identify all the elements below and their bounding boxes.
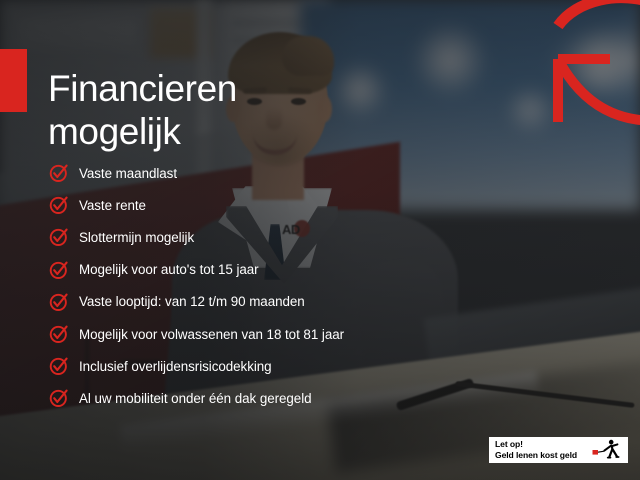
list-item: Mogelijk voor auto's tot 15 jaar <box>48 254 448 286</box>
person-arm-front <box>612 444 617 446</box>
list-item-label: Mogelijk voor volwassenen van 18 tot 81 … <box>79 327 344 342</box>
list-item-label: Slottermijn mogelijk <box>79 230 194 245</box>
list-item-label: Inclusief overlijdensrisicodekking <box>79 359 272 374</box>
red-arc-bracket-logo <box>536 0 640 146</box>
list-item-label: Vaste maandlast <box>79 166 177 181</box>
list-item-label: Al uw mobiliteit onder één dak geregeld <box>79 391 312 406</box>
logo-top-arc <box>558 0 640 26</box>
person-head <box>609 440 614 445</box>
logo-diagonal-arc <box>558 59 640 121</box>
check-circle-icon <box>48 259 70 281</box>
check-circle-icon <box>48 291 70 313</box>
list-item-label: Mogelijk voor auto's tot 15 jaar <box>79 262 259 277</box>
person-leg-front <box>613 450 617 457</box>
check-circle-icon <box>48 194 70 216</box>
person-arm-back <box>604 446 611 451</box>
person-leg-back <box>609 450 612 457</box>
warning-line-1: Let op! <box>495 439 592 450</box>
list-item-label: Vaste looptijd: van 12 t/m 90 maanden <box>79 294 305 309</box>
list-item-label: Vaste rente <box>79 198 146 213</box>
check-circle-icon <box>48 355 70 377</box>
page-title-line-2: mogelijk <box>48 110 368 154</box>
check-circle-icon <box>48 323 70 345</box>
cart-block <box>593 450 599 455</box>
list-item: Vaste rente <box>48 189 448 221</box>
check-circle-icon <box>48 162 70 184</box>
feature-list: Vaste maandlast Vaste rente Slottermijn … <box>48 157 448 415</box>
warning-text: Let op! Geld lenen kost geld <box>495 439 592 461</box>
cart-rope <box>598 451 604 452</box>
list-item: Vaste looptijd: van 12 t/m 90 maanden <box>48 286 448 318</box>
promotional-banner: AD Financieren mogelijk <box>0 0 640 480</box>
page-title: Financieren mogelijk <box>48 67 368 154</box>
check-circle-icon <box>48 226 70 248</box>
list-item: Inclusief overlijdensrisicodekking <box>48 350 448 382</box>
list-item: Slottermijn mogelijk <box>48 221 448 253</box>
list-item: Al uw mobiliteit onder één dak geregeld <box>48 382 448 414</box>
check-circle-icon <box>48 387 70 409</box>
list-item: Vaste maandlast <box>48 157 448 189</box>
walking-person-pulling-cart-icon <box>592 439 622 461</box>
status-badge: Let op! Geld lenen kost geld <box>489 437 628 463</box>
page-title-line-1: Financieren <box>48 67 368 111</box>
warning-line-2: Geld lenen kost geld <box>495 450 592 461</box>
red-accent-bar <box>0 49 27 112</box>
list-item: Mogelijk voor volwassenen van 18 tot 81 … <box>48 318 448 350</box>
logo-mark-svg <box>536 0 640 146</box>
